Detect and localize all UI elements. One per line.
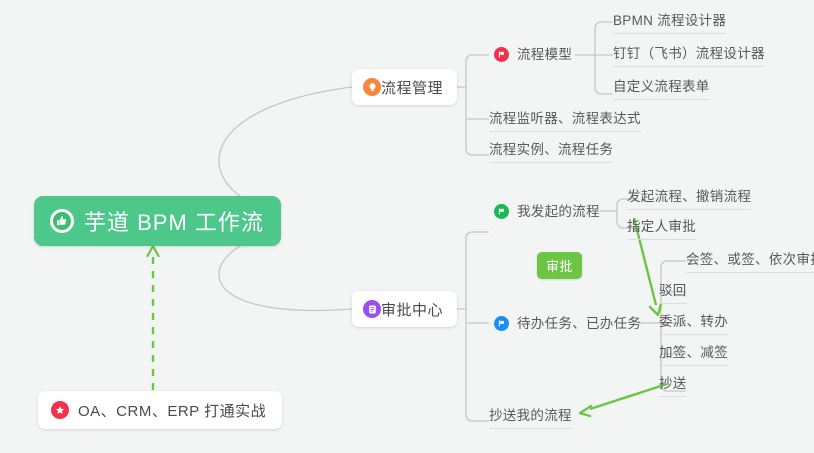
underline [489, 162, 613, 163]
underline [659, 303, 687, 304]
node-label-flow-instance: 流程实例、流程任务 [489, 142, 613, 157]
callout-label-approve: 审批 [546, 259, 573, 274]
link-approve-c3 [466, 415, 489, 421]
leaf-label-add-remove-sign: 加签、减签 [659, 345, 728, 360]
underline [489, 428, 572, 429]
thumbs-up-icon [50, 209, 74, 233]
underline [627, 239, 696, 240]
link-model-c1 [595, 22, 613, 28]
leaf-label-multi-sign: 会签、或签、依次审批 [686, 252, 814, 267]
underline [659, 396, 687, 397]
node-flow-listener[interactable]: 流程监听器、流程表达式 [489, 112, 641, 137]
node-label-cc-my-process: 抄送我的流程 [489, 408, 572, 423]
leaf-label-custom-form: 自定义流程表单 [613, 79, 710, 94]
underline [613, 99, 710, 100]
flag-icon [494, 47, 509, 62]
leaf-assigned-approval[interactable]: 指定人审批 [627, 220, 696, 245]
leaf-dingtalk-designer[interactable]: 钉钉（飞书）流程设计器 [613, 47, 765, 72]
node-label-flow-model: 流程模型 [517, 48, 572, 62]
leaf-add-remove-sign[interactable]: 加签、减签 [659, 346, 728, 371]
leaf-reject[interactable]: 驳回 [659, 284, 687, 309]
node-my-started-process[interactable]: 我发起的流程 [494, 204, 600, 219]
underline [489, 131, 641, 132]
underline [659, 334, 728, 335]
root-node[interactable]: 芋道 BPM 工作流 [34, 196, 281, 246]
dashed-link-oa-to-root [148, 246, 159, 390]
leaf-label-bpmn-designer: BPMN 流程设计器 [613, 13, 726, 28]
node-cc-my-process[interactable]: 抄送我的流程 [489, 409, 572, 434]
node-flow-model[interactable]: 流程模型 [494, 47, 572, 62]
node-label-flow-listener: 流程监听器、流程表达式 [489, 111, 641, 126]
bottom-node-label: OA、CRM、ERP 打通实战 [78, 400, 266, 421]
underline [613, 33, 726, 34]
node-todo-done-tasks[interactable]: 待办任务、已办任务 [494, 316, 641, 331]
node-label-todo-done-tasks: 待办任务、已办任务 [517, 317, 641, 331]
branch-label-flow-management: 流程管理 [381, 77, 443, 98]
leaf-delegate-transfer[interactable]: 委派、转办 [659, 315, 728, 340]
node-label-my-started-process: 我发起的流程 [517, 205, 600, 219]
branch-node-flow-management[interactable]: 流程管理 [352, 69, 457, 105]
leaf-label-delegate-transfer: 委派、转办 [659, 314, 728, 329]
underline [627, 209, 751, 210]
root-label: 芋道 BPM 工作流 [84, 205, 264, 237]
leaf-bpmn-designer[interactable]: BPMN 流程设计器 [613, 14, 726, 39]
leaf-label-assigned-approval: 指定人审批 [627, 219, 696, 234]
link-model-c3 [595, 88, 613, 94]
leaf-label-dingtalk-designer: 钉钉（飞书）流程设计器 [613, 46, 765, 61]
underline [613, 66, 765, 67]
link-root-to-flow [219, 87, 352, 211]
lightbulb-icon [363, 78, 381, 96]
underline [659, 365, 728, 366]
leaf-label-cc: 抄送 [659, 376, 687, 391]
flow-arrow-cc [580, 384, 667, 416]
link-flow-c1 [466, 55, 489, 61]
bottom-node-oa-crm-erp[interactable]: OA、CRM、ERP 打通实战 [38, 391, 282, 429]
flag-icon [494, 204, 509, 219]
leaf-multi-sign[interactable]: 会签、或签、依次审批 [686, 253, 814, 278]
leaf-cc[interactable]: 抄送 [659, 377, 687, 402]
leaf-label-start-cancel-process: 发起流程、撤销流程 [627, 189, 751, 204]
branch-node-approval-center[interactable]: 审批中心 [352, 291, 457, 327]
callout-approve: 审批 [537, 252, 582, 279]
leaf-label-reject: 驳回 [659, 283, 687, 298]
star-icon [51, 401, 69, 419]
underline [686, 272, 814, 273]
mindmap-canvas: 芋道 BPM 工作流 流程管理 流程模型 流程监听器、流程表达式 流程实例、流程… [0, 0, 814, 453]
leaf-start-cancel-process[interactable]: 发起流程、撤销流程 [627, 190, 751, 215]
branch-label-approval-center: 审批中心 [381, 299, 443, 320]
link-approve-c1 [466, 232, 489, 238]
flag-icon [494, 316, 509, 331]
node-flow-instance[interactable]: 流程实例、流程任务 [489, 143, 613, 168]
link-todo-c1 [661, 261, 686, 267]
clipboard-icon [363, 300, 381, 318]
link-flow-c3 [466, 149, 489, 155]
leaf-custom-form[interactable]: 自定义流程表单 [613, 80, 710, 105]
